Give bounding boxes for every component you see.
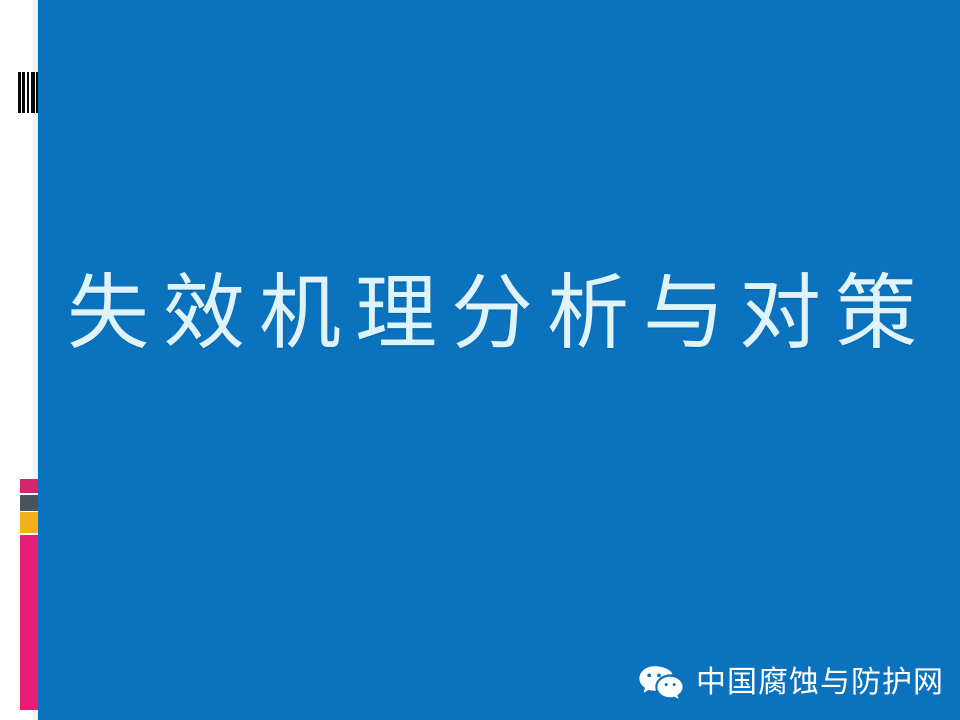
marker-pink-square bbox=[20, 479, 38, 493]
wechat-icon bbox=[638, 664, 684, 702]
marker-slate-square bbox=[20, 495, 38, 511]
watermark-label: 中国腐蚀与防护网 bbox=[696, 666, 944, 700]
marker-magenta-bar bbox=[20, 535, 38, 710]
watermark: 中国腐蚀与防护网 bbox=[638, 664, 944, 702]
slide-canvas: 失效机理分析与对策 中国腐蚀与防护网 bbox=[0, 0, 960, 720]
marker-yellow-square bbox=[20, 512, 38, 533]
barcode-decoration bbox=[18, 72, 38, 113]
slide-title: 失效机理分析与对策 bbox=[38, 262, 960, 366]
